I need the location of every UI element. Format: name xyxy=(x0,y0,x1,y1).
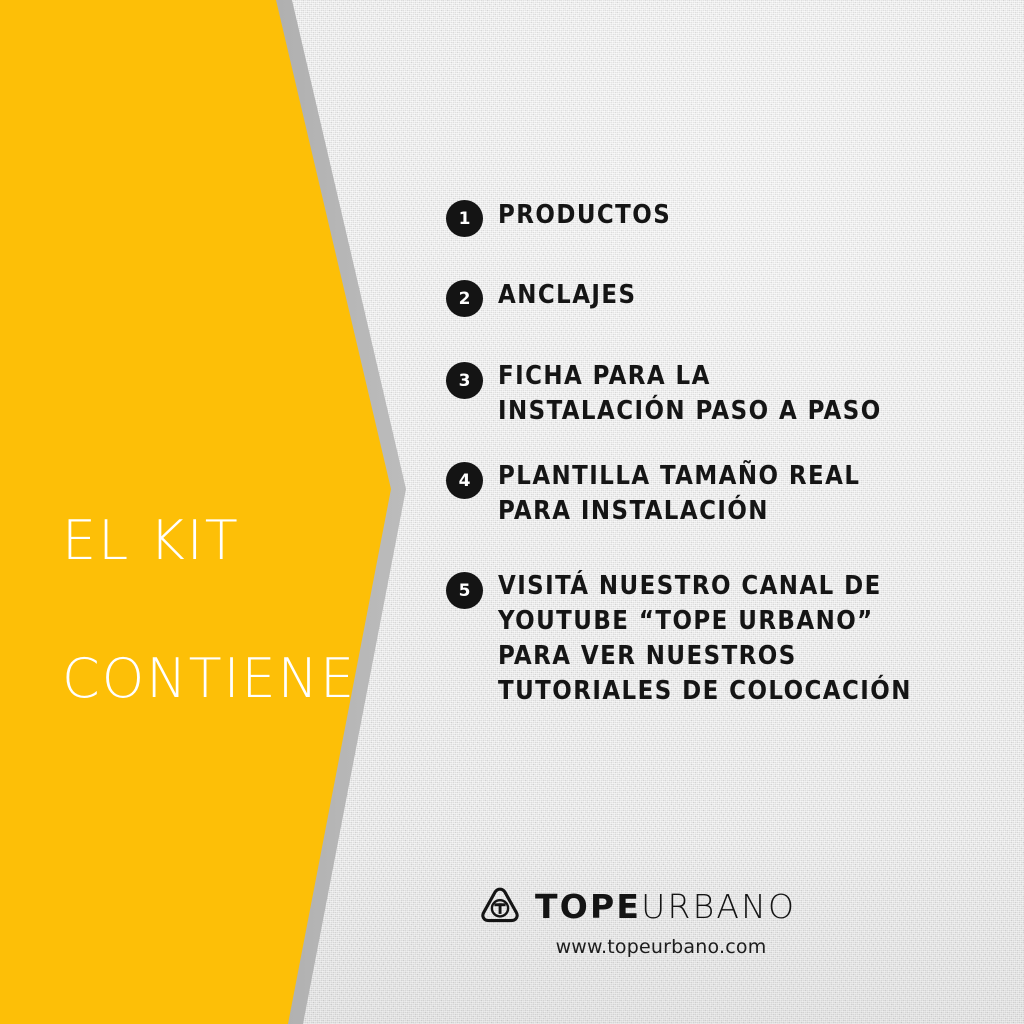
list-item-label: FICHA PARA LA INSTALACIÓN PASO A PASO xyxy=(498,359,882,429)
brand-lockup: TOPEURBANO xyxy=(478,884,798,928)
page-title-line-1: EL KIT xyxy=(62,506,362,575)
list-item-label: VISITÁ NUESTRO CANAL DE YOUTUBE “TOPE UR… xyxy=(498,569,912,709)
list-item-number-badge: 5 xyxy=(446,572,483,609)
rounded-triangle-t-icon xyxy=(478,884,522,928)
list-item-number-badge: 3 xyxy=(446,362,483,399)
list-item: 3 FICHA PARA LA INSTALACIÓN PASO A PASO xyxy=(446,359,986,429)
brand-wordmark-bold: TOPE xyxy=(535,887,641,926)
list-item-number-badge: 1 xyxy=(446,200,483,237)
kit-contents-list: 1 PRODUCTOS 2 ANCLAJES 3 FICHA PARA LA I… xyxy=(446,198,986,709)
list-item-number-badge: 2 xyxy=(446,280,483,317)
brand-wordmark-light: URBANO xyxy=(641,887,796,926)
brand-footer: TOPEURBANO www.topeurbano.com xyxy=(478,884,798,958)
list-item-number-badge: 4 xyxy=(446,462,483,499)
list-item-label: PLANTILLA TAMAÑO REAL PARA INSTALACIÓN xyxy=(498,459,860,529)
website-url: www.topeurbano.com xyxy=(478,936,798,958)
promo-graphic-canvas: EL KIT CONTIENE 1 PRODUCTOS 2 ANCLAJES 3… xyxy=(0,0,1024,1024)
list-item: 4 PLANTILLA TAMAÑO REAL PARA INSTALACIÓN xyxy=(446,459,986,529)
list-item-label: PRODUCTOS xyxy=(498,198,671,233)
list-item: 2 ANCLAJES xyxy=(446,278,986,317)
list-item-label: ANCLAJES xyxy=(498,278,637,313)
page-title: EL KIT CONTIENE xyxy=(62,437,362,782)
brand-wordmark: TOPEURBANO xyxy=(535,890,796,923)
list-item: 5 VISITÁ NUESTRO CANAL DE YOUTUBE “TOPE … xyxy=(446,569,986,709)
page-title-line-2: CONTIENE xyxy=(62,644,362,713)
list-item: 1 PRODUCTOS xyxy=(446,198,986,237)
